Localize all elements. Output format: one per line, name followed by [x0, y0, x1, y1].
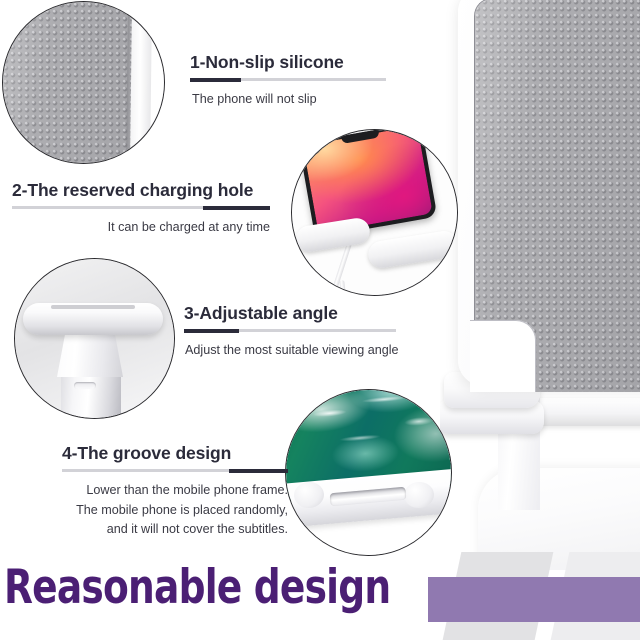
feature-4-heading: 4-The groove design: [62, 443, 288, 463]
feature-block-4: 4-The groove design Lower than the mobil…: [62, 443, 288, 540]
feature-1-body: The phone will not slip: [192, 90, 386, 109]
panel-white-frame: [130, 2, 152, 163]
hinge-closeup-circle: [14, 258, 175, 419]
stand-back-panel: [458, 0, 640, 386]
feature-block-1: 1-Non-slip silicone The phone will not s…: [190, 52, 386, 109]
bottom-banner: Reasonable design: [0, 552, 640, 640]
charging-closeup-circle: [291, 129, 458, 296]
infographic-page: 1-Non-slip silicone The phone will not s…: [0, 0, 640, 640]
feature-4-body-line-3: and it will not cover the subtitles.: [62, 520, 288, 540]
feature-3-rule: [184, 329, 396, 332]
groove-closeup-circle: [285, 389, 452, 556]
feature-3-body: Adjust the most suitable viewing angle: [185, 341, 396, 360]
feature-4-rule-accent: [229, 469, 288, 473]
banner-title: Reasonable design: [4, 562, 390, 614]
feature-3-heading: 3-Adjustable angle: [184, 303, 396, 323]
feature-2-rule: [12, 206, 270, 209]
banner-purple-bar: [428, 577, 640, 622]
phone-screen-gradient: [303, 130, 433, 233]
feature-block-3: 3-Adjustable angle Adjust the most suita…: [184, 303, 396, 360]
phone-stand-product-photo: [440, 0, 640, 570]
feature-3-rule-accent: [184, 329, 239, 333]
charging-hole: [304, 139, 321, 155]
feature-1-heading: 1-Non-slip silicone: [190, 52, 386, 72]
feature-4-body-line-2: The mobile phone is placed randomly,: [62, 501, 288, 521]
feature-2-rule-accent: [203, 206, 270, 210]
feature-2-body: It can be charged at any time: [12, 218, 270, 237]
stand-rail: [532, 398, 640, 426]
feature-block-2: 2-The reserved charging hole It can be c…: [12, 180, 270, 237]
feature-1-rule: [190, 78, 386, 81]
feature-4-body-line-1: Lower than the mobile phone frame.: [62, 481, 288, 501]
feature-1-rule-accent: [190, 78, 241, 82]
hinge-slot: [74, 382, 96, 389]
silicone-closeup-circle: [2, 1, 165, 164]
feature-2-heading: 2-The reserved charging hole: [12, 180, 270, 200]
hinge-pivot-bar: [23, 303, 163, 335]
stand-panel-notch: [470, 320, 536, 392]
hinge-post: [61, 371, 121, 418]
feature-4-rule: [62, 469, 288, 472]
